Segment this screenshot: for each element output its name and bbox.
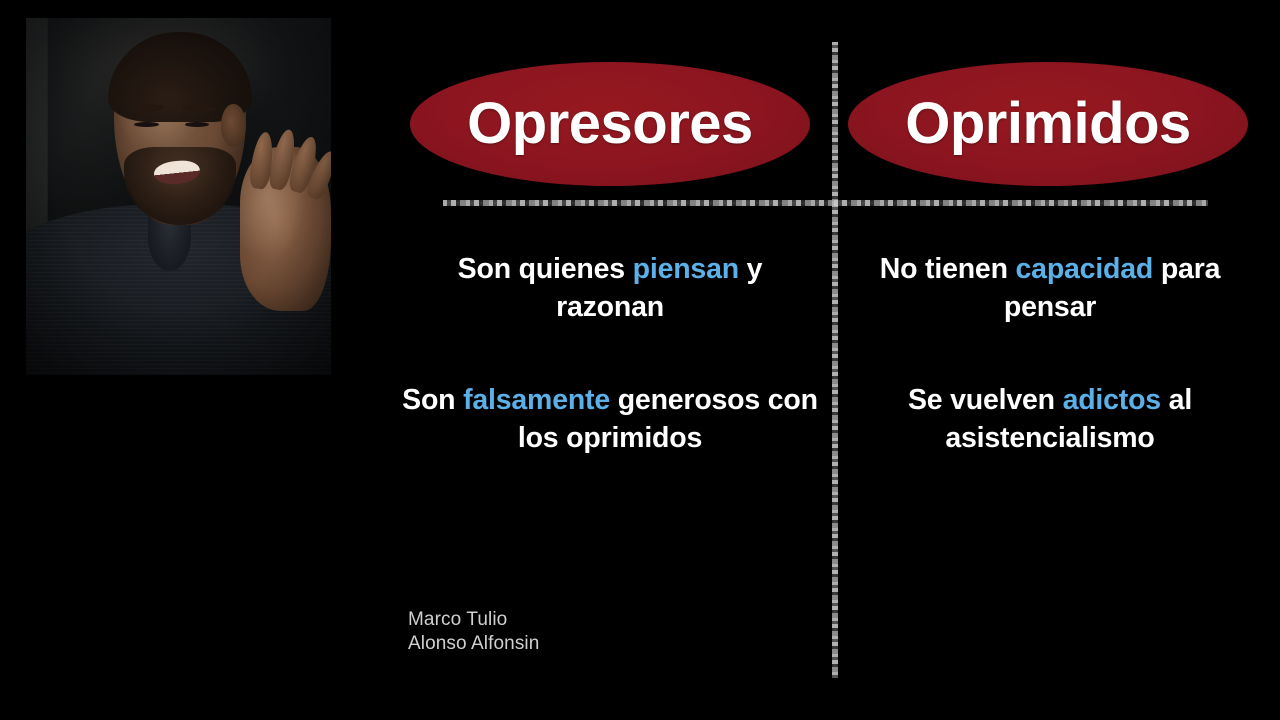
left-column-point-1: Son quienes piensan y razonan	[400, 251, 820, 327]
presenter-webcam-video[interactable]	[26, 18, 331, 375]
text-segment: Se vuelven	[908, 384, 1063, 416]
credit-line-2: Alonso Alfonsin	[408, 632, 539, 656]
vertical-divider-line	[832, 42, 838, 678]
left-column-point-2: Son falsamente generosos con los oprimid…	[400, 382, 820, 458]
right-column-point-2: Se vuelven adictos al asistencialismo	[855, 382, 1245, 458]
text-segment: Son	[402, 384, 463, 416]
text-segment: No tienen	[880, 253, 1016, 285]
right-column-point-1: No tienen capacidad para pensar	[855, 251, 1245, 327]
credit-line-1: Marco Tulio	[408, 608, 539, 632]
highlight-keyword: falsamente	[463, 384, 610, 416]
webcam-vignette	[26, 18, 331, 375]
presentation-slide: Opresores Oprimidos Son quienes piensan …	[0, 0, 1280, 720]
heading-ellipse-oprimidos: Oprimidos	[848, 62, 1248, 186]
heading-label-left: Opresores	[467, 95, 753, 153]
highlight-keyword: capacidad	[1016, 253, 1154, 285]
horizontal-divider-line	[443, 200, 1208, 206]
attribution-credit: Marco Tulio Alonso Alfonsin	[408, 608, 539, 657]
heading-ellipse-opresores: Opresores	[410, 62, 810, 186]
text-segment: Son quienes	[458, 253, 633, 285]
heading-label-right: Oprimidos	[905, 95, 1191, 153]
highlight-keyword: piensan	[633, 253, 739, 285]
highlight-keyword: adictos	[1063, 384, 1161, 416]
